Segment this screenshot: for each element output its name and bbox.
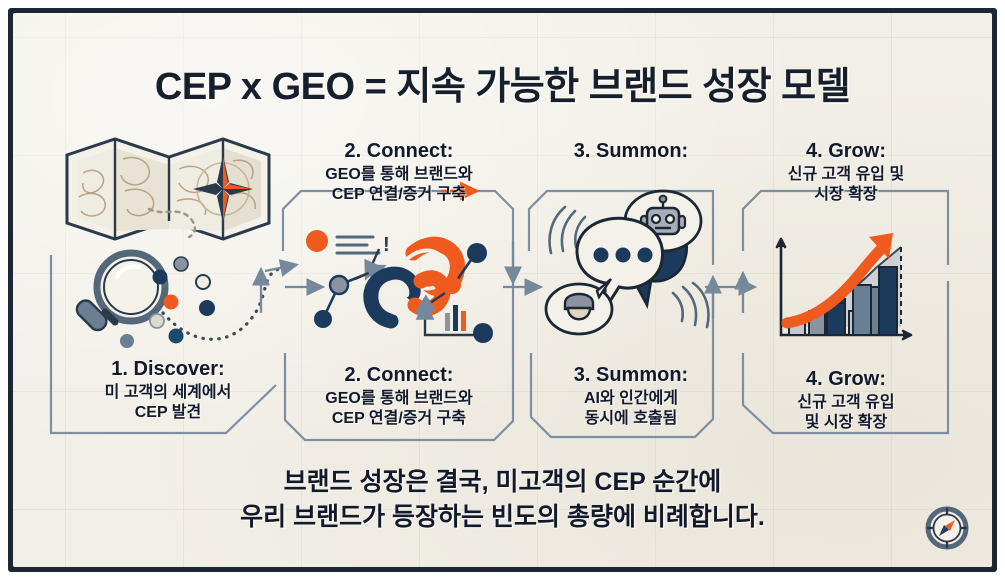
chain-link-network-icon: ! bbox=[295, 223, 503, 353]
grow-bottom-line-2: 및 시장 확장 bbox=[751, 413, 941, 433]
connect-caption-bottom: 2. Connect: GEO를 통해 브랜드와 CEP 연결/증거 구축 bbox=[291, 363, 507, 430]
summon-heading-bottom: 3. Summon: bbox=[535, 363, 727, 389]
grow-caption-bottom: 4. Grow: 신규 고객 유입 및 시장 확장 bbox=[751, 367, 941, 434]
grow-heading-top: 4. Grow: bbox=[751, 139, 941, 165]
svg-text:!: ! bbox=[383, 234, 390, 256]
footer-line-1: 브랜드 성장은 결국, 미고객의 CEP 순간에 bbox=[13, 465, 992, 500]
speech-bubbles-robot-and-person-icon bbox=[535, 185, 727, 345]
connect-top-line-1: GEO를 통해 브랜드와 bbox=[291, 165, 507, 185]
discover-caption: 1. Discover: 미 고객의 세계에서 CEP 발견 bbox=[53, 357, 283, 424]
infographic-canvas: CEP x GEO = 지속 가능한 브랜드 성장 모델 bbox=[0, 0, 1005, 580]
connect-bottom-line-1: GEO를 통해 브랜드와 bbox=[291, 389, 507, 409]
folded-map-with-compass-and-magnifier-icon bbox=[57, 125, 279, 355]
footer-caption: 브랜드 성장은 결국, 미고객의 CEP 순간에 우리 브랜드가 등장하는 빈도… bbox=[13, 465, 992, 534]
footer-line-2: 우리 브랜드가 등장하는 빈도의 총량에 비례합니다. bbox=[13, 500, 992, 535]
grow-top-line-1: 신규 고객 유입 및 bbox=[751, 165, 941, 185]
grow-caption-top: 4. Grow: 신규 고객 유입 및 시장 확장 bbox=[751, 139, 941, 206]
compass-badge-icon bbox=[924, 505, 970, 551]
summon-heading-top: 3. Summon: bbox=[535, 139, 727, 165]
summon-caption-top: 3. Summon: bbox=[535, 139, 727, 165]
discover-heading: 1. Discover: bbox=[53, 357, 283, 383]
discover-line-2: CEP 발견 bbox=[53, 403, 283, 423]
connect-heading-top: 2. Connect: bbox=[291, 139, 507, 165]
grow-heading-bottom: 4. Grow: bbox=[751, 367, 941, 393]
connect-bottom-line-2: CEP 연결/증거 구축 bbox=[291, 409, 507, 429]
summon-bottom-line-1: AI와 인간에게 bbox=[535, 389, 727, 409]
grow-top-line-2: 시장 확장 bbox=[751, 185, 941, 205]
infographic-board: CEP x GEO = 지속 가능한 브랜드 성장 모델 bbox=[13, 13, 992, 567]
grow-bottom-line-1: 신규 고객 유입 bbox=[751, 393, 941, 413]
summon-caption-bottom: 3. Summon: AI와 인간에게 동시에 호출됨 bbox=[535, 363, 727, 430]
connect-heading-bottom: 2. Connect: bbox=[291, 363, 507, 389]
page-title: CEP x GEO = 지속 가능한 브랜드 성장 모델 bbox=[13, 55, 992, 110]
discover-line-1: 미 고객의 세계에서 bbox=[53, 383, 283, 403]
connect-top-line-2: CEP 연결/증거 구축 bbox=[291, 185, 507, 205]
summon-bottom-line-2: 동시에 호출됨 bbox=[535, 409, 727, 429]
connect-caption-top: 2. Connect: GEO를 통해 브랜드와 CEP 연결/증거 구축 bbox=[291, 139, 507, 206]
growth-bar-chart-with-arrow-icon bbox=[765, 227, 927, 351]
